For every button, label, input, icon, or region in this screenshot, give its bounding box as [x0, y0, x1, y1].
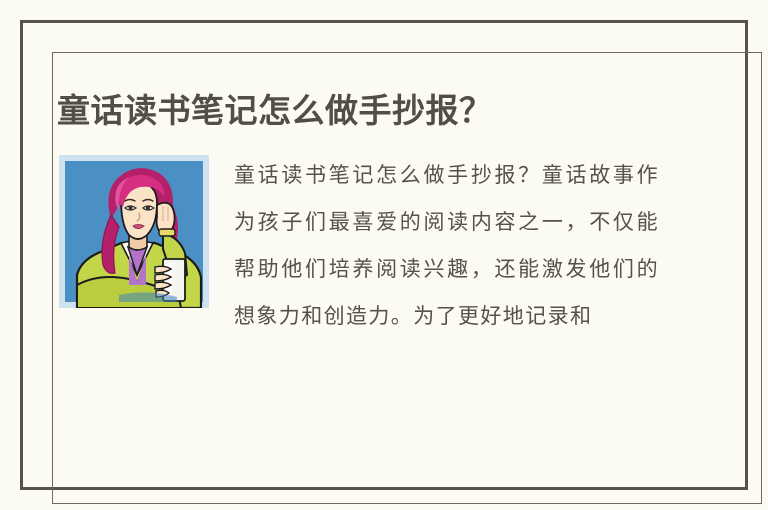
article-body-text: 童话读书笔记怎么做手抄报？童话故事作为孩子们最喜爱的阅读内容之一，不仅能帮助他们…	[234, 152, 659, 340]
article-illustration	[59, 155, 209, 308]
page-title: 童话读书笔记怎么做手抄报？	[57, 90, 493, 132]
article-page: 童话读书笔记怎么做手抄报？	[0, 0, 768, 510]
woman-with-glass-illustration	[59, 155, 209, 308]
